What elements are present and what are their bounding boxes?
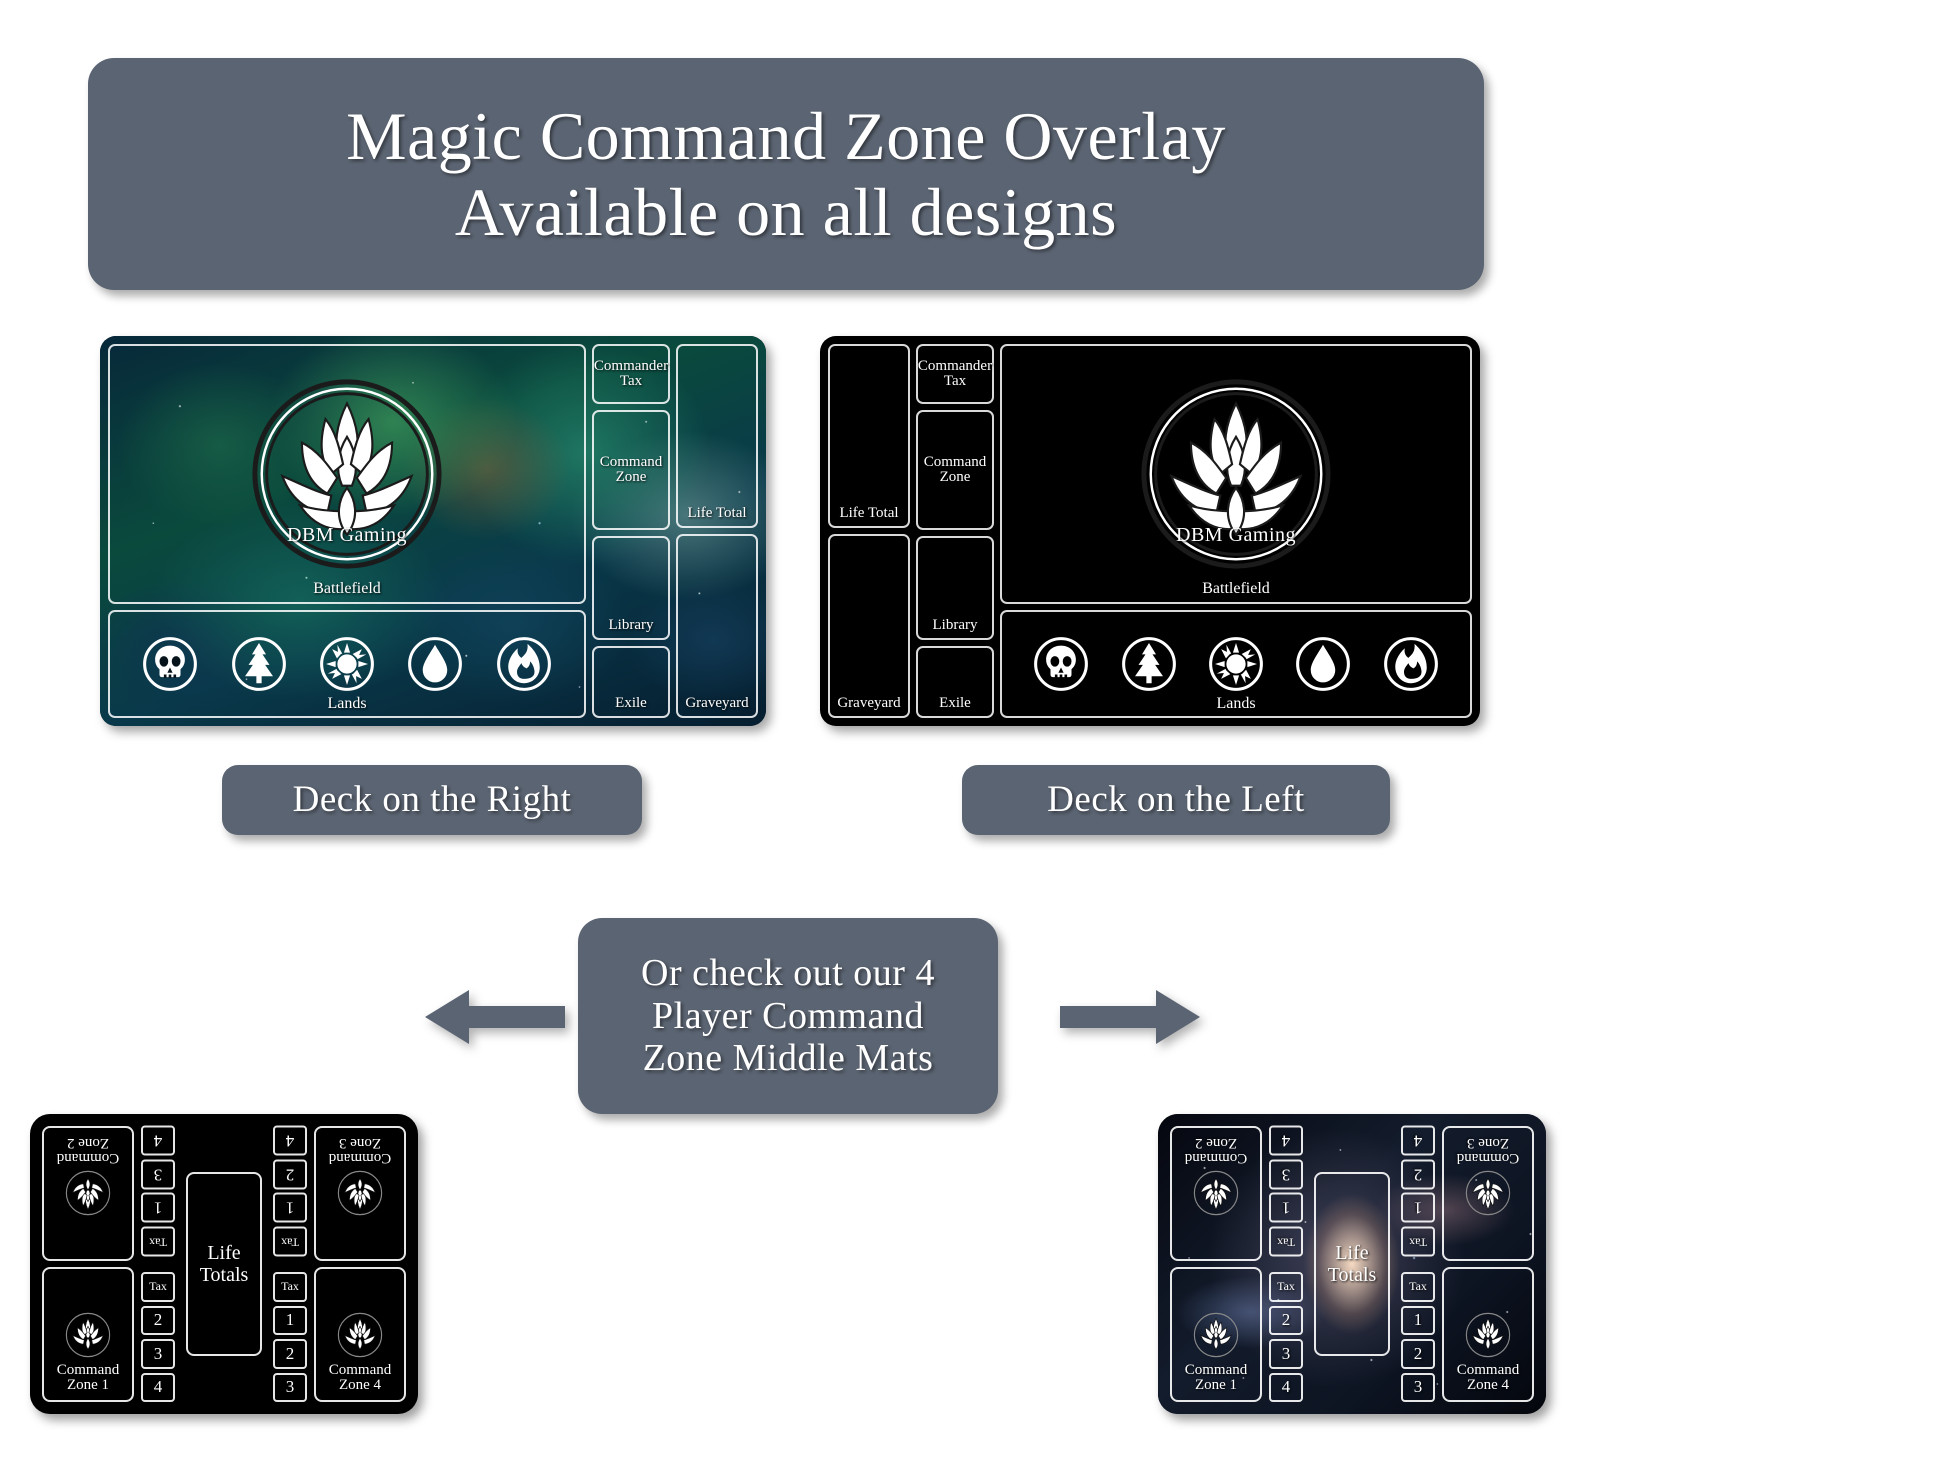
sun-icon — [319, 636, 375, 692]
middle-banner-line-2: Player Command — [652, 995, 924, 1038]
counter-tax[interactable]: Tax — [1269, 1272, 1303, 1302]
counter-column-right[interactable]: 4 2 1 Tax Tax 1 2 3 — [1401, 1126, 1435, 1402]
counter-tax-flipped[interactable]: Tax — [141, 1227, 175, 1257]
commander-tax-zone[interactable]: Commander Tax — [592, 344, 670, 404]
counter-4-flipped[interactable]: 4 — [1269, 1126, 1303, 1156]
battlefield-zone[interactable]: DBM Gaming Battlefield — [108, 344, 586, 604]
deck-on-the-left-banner: Deck on the Left — [962, 765, 1390, 835]
command-zone-4[interactable]: Command Zone 4 — [1442, 1267, 1534, 1402]
library-zone[interactable]: Library — [916, 536, 994, 640]
counter-divider — [141, 1260, 175, 1268]
battlefield-label: Battlefield — [1002, 580, 1470, 598]
deck-on-the-right-banner: Deck on the Right — [222, 765, 642, 835]
title-banner: Magic Command Zone Overlay Available on … — [88, 58, 1484, 290]
battlefield-zone[interactable]: DBM Gaming Battlefield — [1000, 344, 1472, 604]
command-zone-1-label: Command Zone 1 — [1172, 1363, 1260, 1395]
counter-4-flipped[interactable]: 4 — [141, 1126, 175, 1156]
counter-tax-flipped[interactable]: Tax — [1269, 1227, 1303, 1257]
command-zone-4[interactable]: Command Zone 4 — [314, 1267, 406, 1402]
counter-3[interactable]: 3 — [141, 1339, 175, 1369]
dbm-gaming-logo: DBM Gaming — [249, 376, 445, 572]
command-zone-1-label: Command Zone 1 — [44, 1363, 132, 1395]
life-totals-label: Life Totals — [1316, 1242, 1388, 1287]
skull-icon — [142, 636, 198, 692]
command-zone-4-label: Command Zone 4 — [316, 1363, 404, 1395]
middle-mats-callout-banner: Or check out our 4 Player Command Zone M… — [578, 918, 998, 1114]
counter-2[interactable]: 2 — [273, 1339, 307, 1369]
lands-label: Lands — [1002, 695, 1470, 713]
counter-4-flipped[interactable]: 4 — [273, 1126, 307, 1156]
dbm-gaming-logo — [1193, 1171, 1239, 1217]
sun-icon — [1208, 636, 1264, 692]
counter-1[interactable]: 1 — [1401, 1306, 1435, 1336]
left-arrow-icon — [425, 988, 565, 1051]
counter-tax[interactable]: Tax — [1401, 1272, 1435, 1302]
counter-column-left[interactable]: 4 3 1 Tax Tax 2 3 4 — [1269, 1126, 1303, 1402]
counter-3[interactable]: 3 — [1269, 1339, 1303, 1369]
lands-label: Lands — [110, 695, 584, 713]
commander-tax-zone[interactable]: Commander Tax — [916, 344, 994, 404]
lands-zone[interactable]: Lands — [1000, 610, 1472, 718]
middle-banner-line-3: Zone Middle Mats — [643, 1037, 934, 1080]
life-total-zone[interactable]: Life Total — [676, 344, 758, 528]
dbm-gaming-logo — [1465, 1171, 1511, 1217]
counter-tax-flipped[interactable]: Tax — [1401, 1227, 1435, 1257]
counter-1[interactable]: 1 — [273, 1306, 307, 1336]
command-zone-1[interactable]: Command Zone 1 — [42, 1267, 134, 1402]
library-zone[interactable]: Library — [592, 536, 670, 640]
playmat-deck-on-the-left[interactable]: Life Total Graveyard Commander Tax Comma… — [820, 336, 1480, 726]
tree-icon — [1121, 636, 1177, 692]
exile-zone[interactable]: Exile — [916, 646, 994, 718]
dbm-gaming-logo — [65, 1312, 111, 1358]
graveyard-zone[interactable]: Graveyard — [828, 534, 910, 718]
life-totals-zone[interactable]: Life Totals — [1314, 1172, 1390, 1356]
water-drop-icon — [1295, 636, 1351, 692]
skull-icon — [1033, 636, 1089, 692]
command-zone[interactable]: Command Zone — [916, 410, 994, 530]
counter-1-flipped[interactable]: 1 — [141, 1193, 175, 1223]
counter-4[interactable]: 4 — [141, 1373, 175, 1403]
dbm-gaming-logo — [1193, 1312, 1239, 1358]
exile-zone[interactable]: Exile — [592, 646, 670, 718]
page-title-line-2: Available on all designs — [455, 174, 1117, 250]
command-zone-2-label: Command Zone 2 — [1172, 1134, 1260, 1166]
counter-divider — [1401, 1260, 1435, 1268]
dbm-gaming-logo — [337, 1171, 383, 1217]
counter-tax-flipped[interactable]: Tax — [273, 1227, 307, 1257]
dbm-gaming-logo — [65, 1171, 111, 1217]
counter-2[interactable]: 2 — [141, 1306, 175, 1336]
tree-icon — [231, 636, 287, 692]
page-title-line-1: Magic Command Zone Overlay — [346, 98, 1226, 174]
flame-icon — [1383, 636, 1439, 692]
right-arrow-icon — [1060, 988, 1200, 1051]
dbm-gaming-logo — [1465, 1312, 1511, 1358]
command-zone-3[interactable]: Command Zone 3 — [1442, 1126, 1534, 1261]
deck-on-the-left-label: Deck on the Left — [1047, 779, 1305, 820]
deck-on-the-right-label: Deck on the Right — [293, 779, 572, 820]
counter-column-left[interactable]: 4 3 1 Tax Tax 2 3 4 — [141, 1126, 175, 1402]
life-totals-zone[interactable]: Life Totals — [186, 1172, 262, 1356]
counter-2-flipped[interactable]: 2 — [273, 1160, 307, 1190]
command-zone-2-label: Command Zone 2 — [44, 1134, 132, 1166]
playmat-deck-on-the-right[interactable]: DBM Gaming Battlefield — [100, 336, 766, 726]
counter-3-flipped[interactable]: 3 — [141, 1160, 175, 1190]
four-player-middle-mat-black[interactable]: Command Zone 2 Comma — [30, 1114, 418, 1414]
flame-icon — [496, 636, 552, 692]
counter-2[interactable]: 2 — [1401, 1339, 1435, 1369]
command-zone-1[interactable]: Command Zone 1 — [1170, 1267, 1262, 1402]
four-player-middle-mat-galaxy[interactable]: Command Zone 2 Comma — [1158, 1114, 1546, 1414]
command-zone-3-label: Command Zone 3 — [1444, 1134, 1532, 1166]
counter-1-flipped[interactable]: 1 — [1401, 1193, 1435, 1223]
counter-4-flipped[interactable]: 4 — [1401, 1126, 1435, 1156]
counter-3[interactable]: 3 — [273, 1373, 307, 1403]
brand-name: DBM Gaming — [249, 524, 445, 547]
command-zone-2[interactable]: Command Zone 2 — [1170, 1126, 1262, 1261]
counter-tax[interactable]: Tax — [273, 1272, 307, 1302]
counter-tax[interactable]: Tax — [141, 1272, 175, 1302]
counter-3-flipped[interactable]: 3 — [1269, 1160, 1303, 1190]
counter-1-flipped[interactable]: 1 — [1269, 1193, 1303, 1223]
counter-3[interactable]: 3 — [1401, 1373, 1435, 1403]
command-zone[interactable]: Command Zone — [592, 410, 670, 530]
dbm-gaming-logo: DBM Gaming — [1138, 376, 1334, 572]
command-zone-2[interactable]: Command Zone 2 — [42, 1126, 134, 1261]
counter-2[interactable]: 2 — [1269, 1306, 1303, 1336]
middle-banner-line-1: Or check out our 4 — [641, 952, 935, 995]
command-zone-3-label: Command Zone 3 — [316, 1134, 404, 1166]
graveyard-zone[interactable]: Graveyard — [676, 534, 758, 718]
water-drop-icon — [407, 636, 463, 692]
counter-column-right[interactable]: 4 2 1 Tax Tax 1 2 3 — [273, 1126, 307, 1402]
dbm-gaming-logo — [337, 1312, 383, 1358]
battlefield-label: Battlefield — [110, 580, 584, 598]
lands-zone[interactable]: Lands — [108, 610, 586, 718]
counter-2-flipped[interactable]: 2 — [1401, 1160, 1435, 1190]
counter-1-flipped[interactable]: 1 — [273, 1193, 307, 1223]
command-zone-3[interactable]: Command Zone 3 — [314, 1126, 406, 1261]
brand-name: DBM Gaming — [1138, 524, 1334, 547]
command-zone-4-label: Command Zone 4 — [1444, 1363, 1532, 1395]
counter-4[interactable]: 4 — [1269, 1373, 1303, 1403]
life-total-zone[interactable]: Life Total — [828, 344, 910, 528]
counter-divider — [273, 1260, 307, 1268]
counter-divider — [1269, 1260, 1303, 1268]
life-totals-label: Life Totals — [188, 1242, 260, 1287]
